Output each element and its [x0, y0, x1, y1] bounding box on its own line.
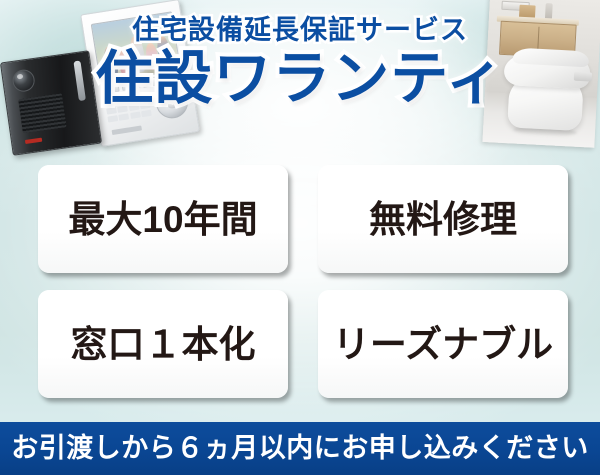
feature-label: リーズナブル: [333, 326, 553, 363]
banner-headings: 住宅設備延長保証サービス 住設ワランティ: [0, 16, 600, 108]
feature-grid: 最大10年間 無料修理 窓口１本化 リーズナブル: [38, 165, 568, 398]
keypad-key: [119, 113, 130, 121]
promo-banner: 住宅設備延長保証サービス 住設ワランティ 最大10年間 無料修理 窓口１本化 リ…: [0, 0, 600, 475]
keypad-key: [130, 111, 141, 119]
feature-box-reasonable: リーズナブル: [318, 290, 568, 398]
feature-box-free-repair: 無料修理: [318, 165, 568, 273]
feature-box-single-contact: 窓口１本化: [38, 290, 288, 398]
feature-label: 最大10年間: [68, 201, 257, 238]
feature-label: 窓口１本化: [71, 326, 256, 363]
footer-text: お引渡しから６ヵ月以内にお申し込みください: [11, 435, 589, 462]
feature-box-max-years: 最大10年間: [38, 165, 288, 273]
intercom-brand-label: [112, 125, 142, 135]
page-title: 住設ワランティ: [0, 50, 600, 108]
feature-label: 無料修理: [369, 201, 517, 238]
footer-bar: お引渡しから６ヵ月以内にお申し込みください: [0, 422, 600, 475]
banner-subtitle: 住宅設備延長保証サービス: [0, 16, 600, 44]
outdoor-unit-indicator: [25, 138, 42, 144]
keypad-key: [107, 115, 118, 123]
